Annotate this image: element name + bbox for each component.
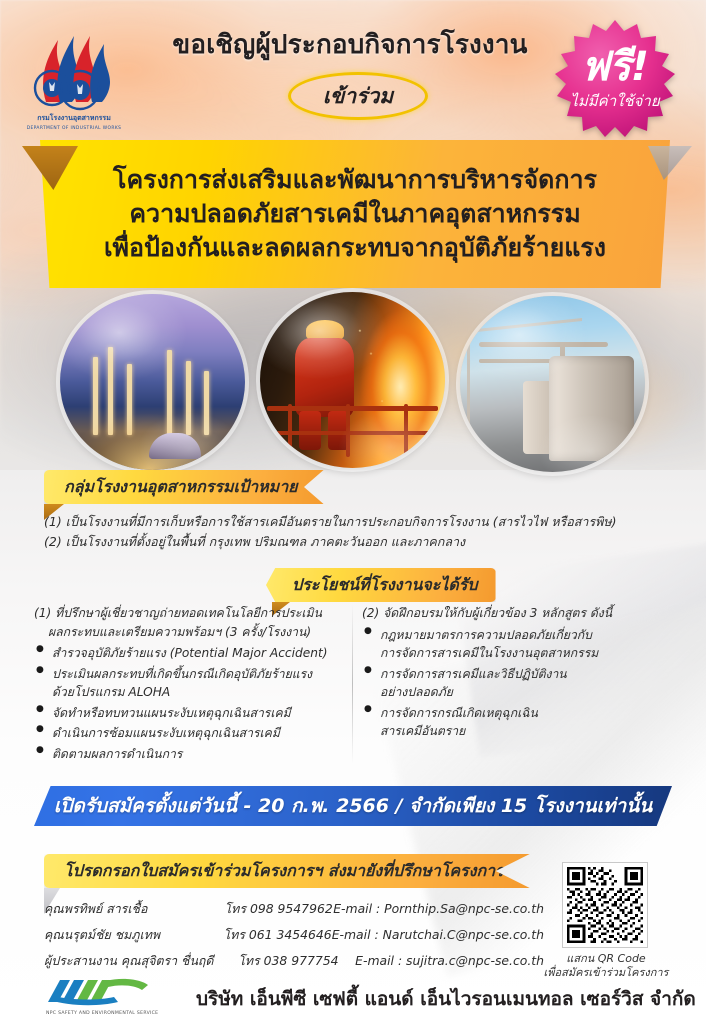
table-row: ผู้ประสานงาน คุณสุจิตรา ชื่นฤดี โทร 038 …: [44, 948, 544, 974]
contact-name: คุณพรทิพย์ สารเชื้อ: [44, 903, 225, 915]
qr-caption-line-2: เพื่อสมัครเข้าร่วมโครงการ: [516, 966, 696, 980]
list-item: จัดทำหรือทบทวนแผนระงับเหตุฉุกเฉินสารเคมี: [34, 704, 346, 723]
contact-phone: โทร 038 977754: [238, 955, 355, 967]
refinery-photo: [60, 294, 245, 470]
registration-banner-text: เปิดรับสมัครตั้งแต่วันนี้ - 20 ก.พ. 2566…: [54, 791, 652, 821]
list-item: กฎหมายมาตรการความปลอดภัยเกี่ยวกับ การจัด…: [362, 626, 674, 663]
target-group-list: (1) เป็นโรงงานที่มีการเก็บหรือการใช้สารเ…: [44, 512, 664, 553]
list-item: ประเมินผลกระทบที่เกิดขึ้นกรณีเกิดอุบัติภ…: [34, 665, 346, 702]
diw-logo: กรมโรงงานอุตสาหกรรม DEPARTMENT OF INDUST…: [18, 16, 130, 138]
storage-tank-photo: [460, 296, 645, 472]
contact-email[interactable]: E-mail : Pornthip.Sa@npc-se.co.th: [333, 903, 544, 915]
bullet-line-2: อย่างปลอดภัย: [380, 683, 674, 702]
invite-title: ขอเชิญผู้ประกอบกิจการโรงงาน: [150, 24, 550, 65]
contact-name: ผู้ประสานงาน คุณสุจิตรา ชื่นฤดี: [44, 955, 238, 967]
bullet-line-1: สำรวจอุบัติภัยร้ายแรง (Potential Major A…: [52, 644, 346, 663]
list-item: สำรวจอุบัติภัยร้ายแรง (Potential Major A…: [34, 644, 346, 663]
bullet-line-1: ติดตามผลการดำเนินการ: [52, 745, 346, 764]
list-item: การจัดการสารเคมีและวิธีปฏิบัติงาน อย่างป…: [362, 665, 674, 702]
target-group-item-2: (2) เป็นโรงงานที่ตั้งอยู่ในพื้นที่ กรุงเ…: [44, 532, 664, 552]
company-name: บริษัท เอ็นพีซี เซฟตี้ แอนด์ เอ็นไวรอนเม…: [196, 984, 696, 1014]
benefit-ribbon-label: ประโยชน์ที่โรงงานจะได้รับ: [292, 573, 478, 598]
apply-ribbon: โปรดกรอกใบสมัครเข้าร่วมโครงการฯ ส่งมายัง…: [44, 854, 530, 888]
bullet-line-1: การจัดการกรณีเกิดเหตุฉุกเฉิน: [380, 704, 674, 723]
contact-name: คุณนรุตม์ชัย ชมภูเทพ: [44, 929, 223, 941]
target-group-ribbon: กลุ่มโรงงานอุตสาหกรรมเป้าหมาย: [44, 470, 324, 504]
bullet-line-2: การจัดการสารเคมีในโรงงานอุตสาหกรรม: [380, 644, 674, 663]
benefit-ribbon: ประโยชน์ที่โรงงานจะได้รับ: [266, 568, 496, 602]
qr-caption-line-1: แสกน QR Code: [516, 952, 696, 966]
free-badge-subtitle: ไม่มีค่าใช้จ่าย: [570, 92, 660, 110]
contact-email[interactable]: E-mail : Narutchai.C@npc-se.co.th: [332, 929, 544, 941]
list-item: ติดตามผลการดำเนินการ: [34, 745, 346, 764]
bullet-line-2: ด้วยโปรแกรม ALOHA: [52, 683, 346, 702]
main-title-line-1: โครงการส่งเสริมและพัฒนาการบริหารจัดการ: [113, 164, 597, 196]
registration-banner-bg: เปิดรับสมัครตั้งแต่วันนี้ - 20 ก.พ. 2566…: [34, 786, 672, 826]
npc-logo: NPC SAFETY AND ENVIRONMENTAL SERVICE: [44, 976, 184, 1018]
table-row: คุณนรุตม์ชัย ชมภูเทพ โทร 061 3454646 E-m…: [44, 922, 544, 948]
list-item: การจัดการกรณีเกิดเหตุฉุกเฉิน สารเคมีอันต…: [362, 704, 674, 741]
qr-caption: แสกน QR Code เพื่อสมัครเข้าร่วมโครงการ: [516, 952, 696, 981]
diw-logo-name-en: DEPARTMENT OF INDUSTRIAL WORKS: [27, 125, 122, 131]
target-group-ribbon-label: กลุ่มโรงงานอุตสาหกรรมเป้าหมาย: [64, 475, 298, 500]
firefighter-photo: [260, 292, 445, 468]
storage-tank-photo-art: [460, 296, 645, 472]
list-item: ดำเนินการซ้อมแผนระงับเหตุฉุกเฉินสารเคมี: [34, 724, 346, 743]
benefit-left-lead-2: ผลกระทบและเตรียมความพร้อมฯ (3 ครั้ง/โรงง…: [34, 623, 346, 642]
join-label: เข้าร่วม: [323, 80, 393, 113]
photo-oval-group: [0, 292, 706, 472]
diw-logo-name-th: กรมโรงงานอุตสาหกรรม: [37, 113, 111, 122]
contact-phone: โทร 061 3454646: [223, 929, 331, 941]
main-title-banner: โครงการส่งเสริมและพัฒนาการบริหารจัดการ ค…: [40, 140, 670, 288]
benefit-left-bullets: สำรวจอุบัติภัยร้ายแรง (Potential Major A…: [34, 644, 346, 763]
contact-phone: โทร 098 9547962: [225, 903, 334, 915]
registration-banner: เปิดรับสมัครตั้งแต่วันนี้ - 20 ก.พ. 2566…: [34, 786, 672, 826]
refinery-photo-art: [60, 294, 245, 470]
bullet-line-1: การจัดการสารเคมีและวิธีปฏิบัติงาน: [380, 665, 674, 684]
benefit-column-right: (2) จัดฝึกอบรมให้กับผู้เกี่ยวข้อง 3 หลัก…: [362, 604, 674, 765]
bullet-line-1: จัดทำหรือทบทวนแผนระงับเหตุฉุกเฉินสารเคมี: [52, 704, 346, 723]
free-badge-title: ฟรี!: [581, 44, 649, 90]
poster-root: กรมโรงงานอุตสาหกรรม DEPARTMENT OF INDUST…: [0, 0, 706, 1024]
apply-ribbon-label: โปรดกรอกใบสมัครเข้าร่วมโครงการฯ ส่งมายัง…: [64, 859, 504, 884]
firefighter-photo-art: [260, 292, 445, 468]
benefit-right-bullets: กฎหมายมาตรการความปลอดภัยเกี่ยวกับ การจัด…: [362, 626, 674, 741]
free-badge: ฟรี! ไม่มีค่าใช้จ่าย: [545, 18, 685, 140]
bullet-line-1: ประเมินผลกระทบที่เกิดขึ้นกรณีเกิดอุบัติภ…: [52, 665, 346, 684]
main-title-line-2: ความปลอดภัยสารเคมีในภาคอุตสาหกรรม: [129, 198, 580, 230]
benefit-right-lead-1: (2) จัดฝึกอบรมให้กับผู้เกี่ยวข้อง 3 หลัก…: [362, 604, 674, 623]
join-highlight-oval: เข้าร่วม: [288, 72, 428, 120]
benefit-columns: (1) ที่ปรึกษาผู้เชี่ยวชาญถ่ายทอดเทคโนโลย…: [34, 604, 674, 765]
benefit-column-left: (1) ที่ปรึกษาผู้เชี่ยวชาญถ่ายทอดเทคโนโลย…: [34, 604, 346, 765]
contact-list: คุณพรทิพย์ สารเชื้อ โทร 098 9547962 E-ma…: [44, 896, 544, 974]
npc-logo-subtitle: NPC SAFETY AND ENVIRONMENTAL SERVICE: [46, 1010, 158, 1016]
bullet-line-1: ดำเนินการซ้อมแผนระงับเหตุฉุกเฉินสารเคมี: [52, 724, 346, 743]
bullet-line-1: กฎหมายมาตรการความปลอดภัยเกี่ยวกับ: [380, 626, 674, 645]
main-title-text: โครงการส่งเสริมและพัฒนาการบริหารจัดการ ค…: [40, 140, 670, 288]
table-row: คุณพรทิพย์ สารเชื้อ โทร 098 9547962 E-ma…: [44, 896, 544, 922]
target-group-item-1: (1) เป็นโรงงานที่มีการเก็บหรือการใช้สารเ…: [44, 512, 664, 532]
benefit-left-lead-1: (1) ที่ปรึกษาผู้เชี่ยวชาญถ่ายทอดเทคโนโลย…: [34, 604, 346, 623]
qr-code[interactable]: [562, 862, 648, 948]
main-title-line-3: เพื่อป้องกันและลดผลกระทบจากอุบัติภัยร้าย…: [104, 232, 606, 264]
bullet-line-2: สารเคมีอันตราย: [380, 722, 674, 741]
